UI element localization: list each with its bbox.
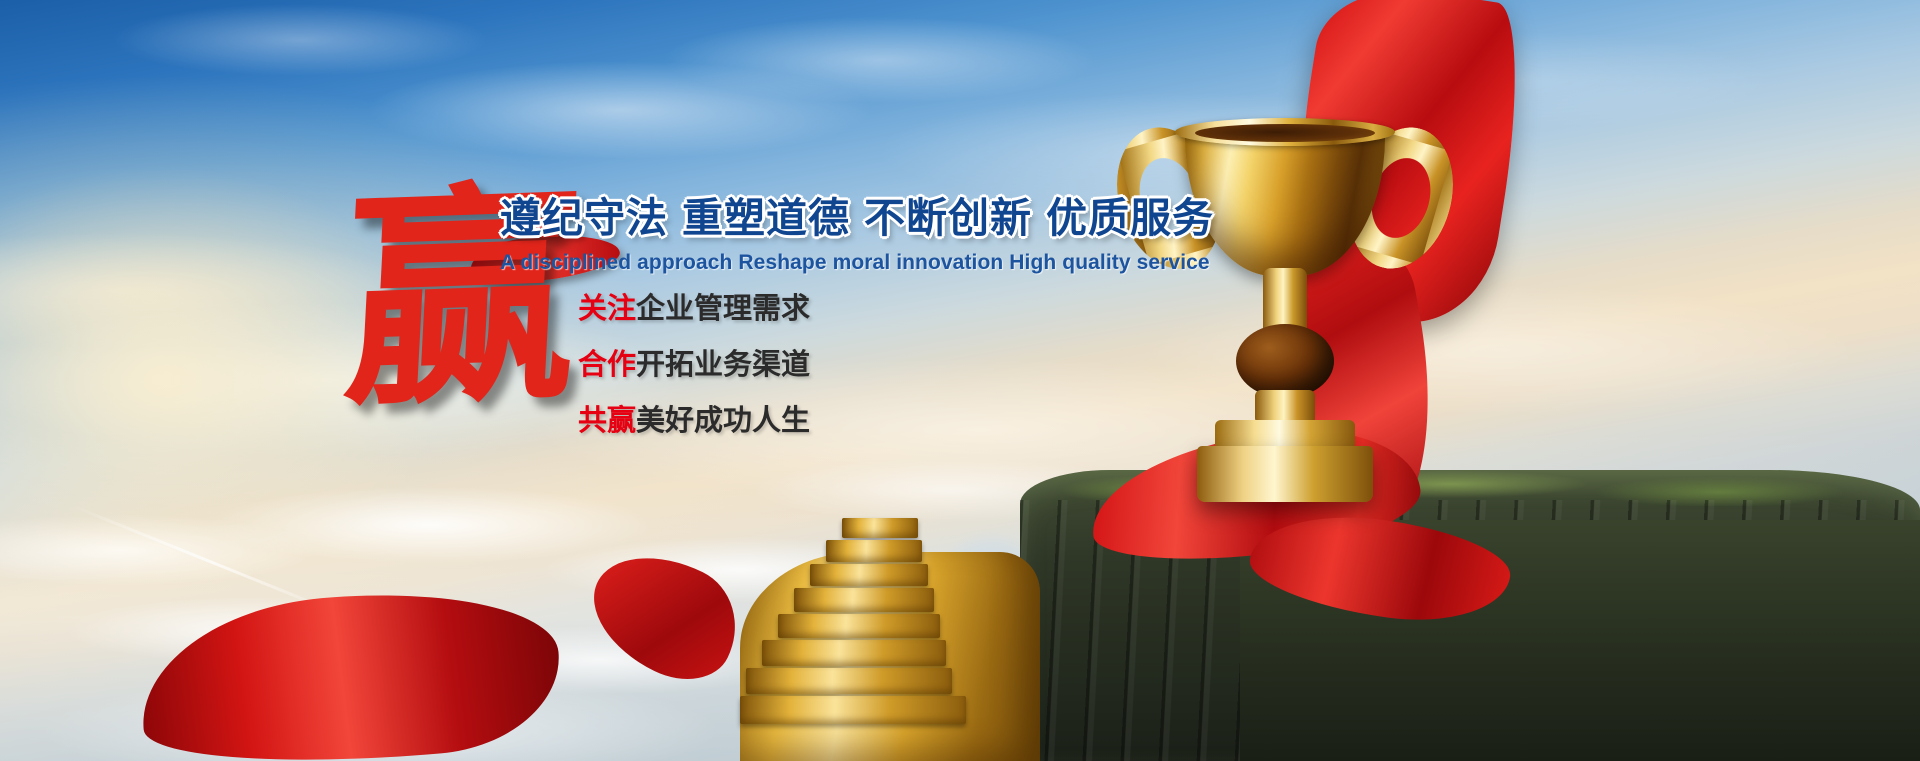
cliff-front-face (1240, 520, 1920, 761)
slogan-item: 合作开拓业务渠道 (578, 351, 1140, 380)
slogan-highlight: 关注 (578, 293, 636, 325)
gold-trophy (1105, 110, 1465, 510)
stair-step (740, 696, 966, 724)
banner-subtitle-english: A disciplined approach Reshape moral inn… (500, 251, 1140, 275)
stair-step (762, 640, 946, 666)
trophy-neck (1255, 390, 1315, 424)
banner-headline: 遵纪守法重塑道德不断创新优质服务 (500, 198, 1140, 239)
stair-step (778, 614, 940, 638)
banner-copy-block: 遵纪守法重塑道德不断创新优质服务 A disciplined approach … (500, 198, 1140, 436)
slogan-rest: 企业管理需求 (636, 293, 810, 325)
slogan-item: 共赢美好成功人生 (578, 407, 1140, 436)
stair-step (826, 540, 922, 562)
slogan-item: 关注企业管理需求 (578, 295, 1140, 324)
golden-dollar-stairs (740, 490, 1070, 761)
ribbon-left-streamer (134, 578, 567, 761)
lens-streak (70, 504, 349, 619)
slogan-rest: 美好成功人生 (636, 405, 810, 437)
trophy-knob (1236, 324, 1334, 398)
headline-segment: 优质服务 (1046, 195, 1214, 241)
headline-segment: 不断创新 (864, 195, 1032, 241)
headline-segment: 遵纪守法 (500, 195, 668, 241)
headline-segment: 重塑道德 (682, 195, 850, 241)
trophy-base (1197, 446, 1373, 502)
slogan-list: 关注企业管理需求 合作开拓业务渠道 共赢美好成功人生 (500, 295, 1140, 436)
trophy-bowl (1185, 128, 1385, 276)
ribbon-left-fragment (573, 533, 756, 698)
stair-step (746, 668, 952, 694)
stair-step (842, 518, 918, 538)
trophy-interior (1195, 124, 1375, 142)
slogan-rest: 开拓业务渠道 (636, 349, 810, 381)
stair-step (794, 588, 934, 612)
stair-step (810, 564, 928, 586)
promotional-banner: 赢 遵纪守法重塑道德不断创新优质服务 A disciplined approac… (0, 0, 1920, 761)
slogan-highlight: 共赢 (578, 405, 636, 437)
slogan-highlight: 合作 (578, 349, 636, 381)
